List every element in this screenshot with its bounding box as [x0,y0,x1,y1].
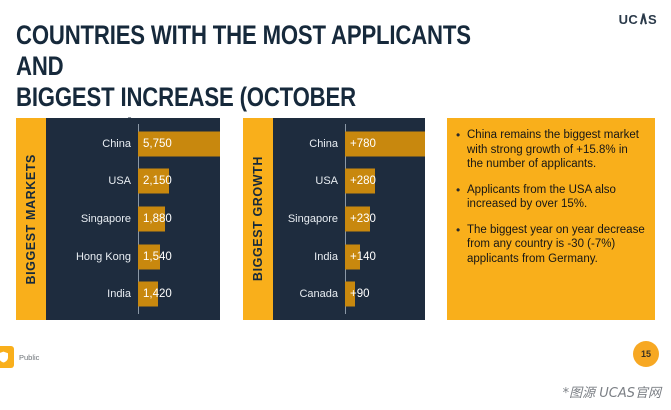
bar-category-label: USA [46,175,138,187]
bar-value-label: +230 [345,213,376,225]
bar-value-label: 2,150 [138,175,172,187]
bar-value-label: +140 [345,251,376,263]
bar-value-label: +780 [345,138,376,150]
bullet-icon: • [456,128,467,172]
insight-item: • China remains the biggest market with … [456,128,645,172]
bar-value-label: +280 [345,175,376,187]
bar-track: +140 [345,240,425,274]
bar-category-label: China [46,138,138,150]
page-number-badge: 15 [633,341,659,367]
bar-row: China 5,750 [46,127,220,161]
bar-track: +780 [345,127,425,161]
panel-sidebar-biggest-growth: BIGGEST GROWTH [243,118,273,320]
chart-panel-biggest-growth: BIGGEST GROWTH China +780 USA +280 Singa… [243,118,425,320]
bar-category-label: Singapore [46,213,138,225]
bar-track: 1,880 [138,202,220,236]
classification-label: Public [19,353,39,362]
bar-row: India 1,420 [46,277,220,311]
bar-track: +280 [345,164,425,198]
panel-sidebar-label: BIGGEST MARKETS [24,154,38,285]
ucas-logo: UCS [619,12,657,27]
shield-icon [0,346,14,368]
bar-category-label: India [273,251,345,263]
bar-row: Canada +90 [273,277,425,311]
bar-row: USA 2,150 [46,164,220,198]
bar-category-label: India [46,288,138,300]
bar-value-label: 1,420 [138,288,172,300]
bar-category-label: China [273,138,345,150]
bar-category-label: USA [273,175,345,187]
bar-value-label: 1,540 [138,251,172,263]
classification-marking: Public [0,346,39,368]
bar-row: India +140 [273,240,425,274]
bar-row: USA +280 [273,164,425,198]
logo-text-uc: UC [619,12,638,27]
bar-value-label: +90 [345,288,370,300]
bar-track: 5,750 [138,127,220,161]
bar-track: 1,420 [138,277,220,311]
bar-category-label: Canada [273,288,345,300]
bar-track: +230 [345,202,425,236]
bar-track: +90 [345,277,425,311]
bar-row: China +780 [273,127,425,161]
insight-text: The biggest year on year decrease from a… [467,223,645,267]
bar-value-label: 5,750 [138,138,172,150]
bar-row: Hong Kong 1,540 [46,240,220,274]
insight-text: China remains the biggest market with st… [467,128,645,172]
insight-item: • The biggest year on year decrease from… [456,223,645,267]
insight-text: Applicants from the USA also increased b… [467,183,645,212]
bar-category-label: Singapore [273,213,345,225]
panel-sidebar-label: BIGGEST GROWTH [251,156,265,281]
bar-track: 2,150 [138,164,220,198]
chart-plot-area-growth: China +780 USA +280 Singapore +230 [273,118,425,320]
bar-row: Singapore 1,880 [46,202,220,236]
source-caption: *图源 UCAS官网 [563,382,661,401]
bar-row: Singapore +230 [273,202,425,236]
logo-text-s: S [648,12,657,27]
insight-item: • Applicants from the USA also increased… [456,183,645,212]
slide: COUNTRIES WITH THE MOST APPLICANTS AND B… [0,0,671,375]
panel-sidebar-biggest-markets: BIGGEST MARKETS [16,118,46,320]
chart-plot-area-markets: China 5,750 USA 2,150 Singapore 1,880 [46,118,220,320]
bar-value-label: 1,880 [138,213,172,225]
chart-panel-biggest-markets: BIGGEST MARKETS China 5,750 USA 2,150 Si… [16,118,220,320]
logo-letter-a [639,13,648,24]
insights-panel: • China remains the biggest market with … [447,118,655,320]
bullet-icon: • [456,183,467,212]
bar-category-label: Hong Kong [46,251,138,263]
bar-track: 1,540 [138,240,220,274]
bullet-icon: • [456,223,467,267]
